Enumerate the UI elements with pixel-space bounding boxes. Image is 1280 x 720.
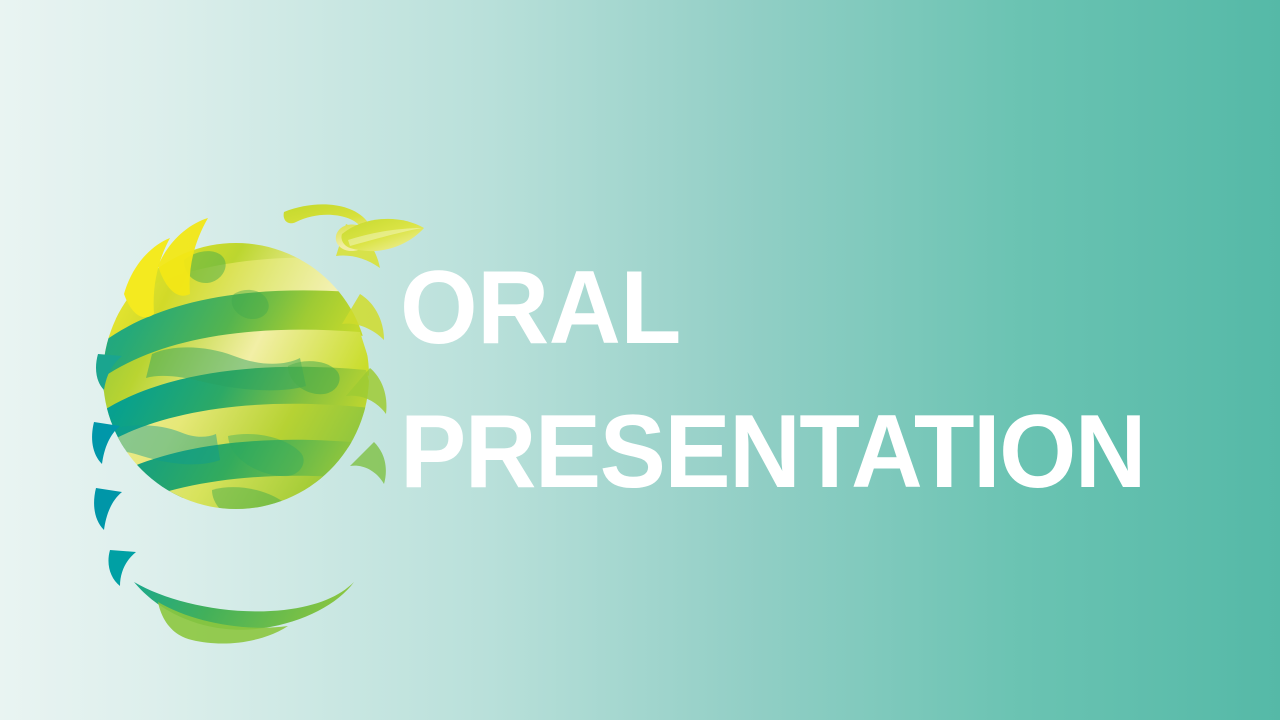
presentation-slide: ORAL PRESENTATION [0,0,1280,720]
title-line-oral: ORAL [400,236,1187,380]
globe-ribbons [82,222,380,598]
slide-title: ORAL PRESENTATION [400,236,1220,524]
globe-ribbon-leaf-logo [88,198,388,520]
title-line-presentation: PRESENTATION [400,380,1183,524]
